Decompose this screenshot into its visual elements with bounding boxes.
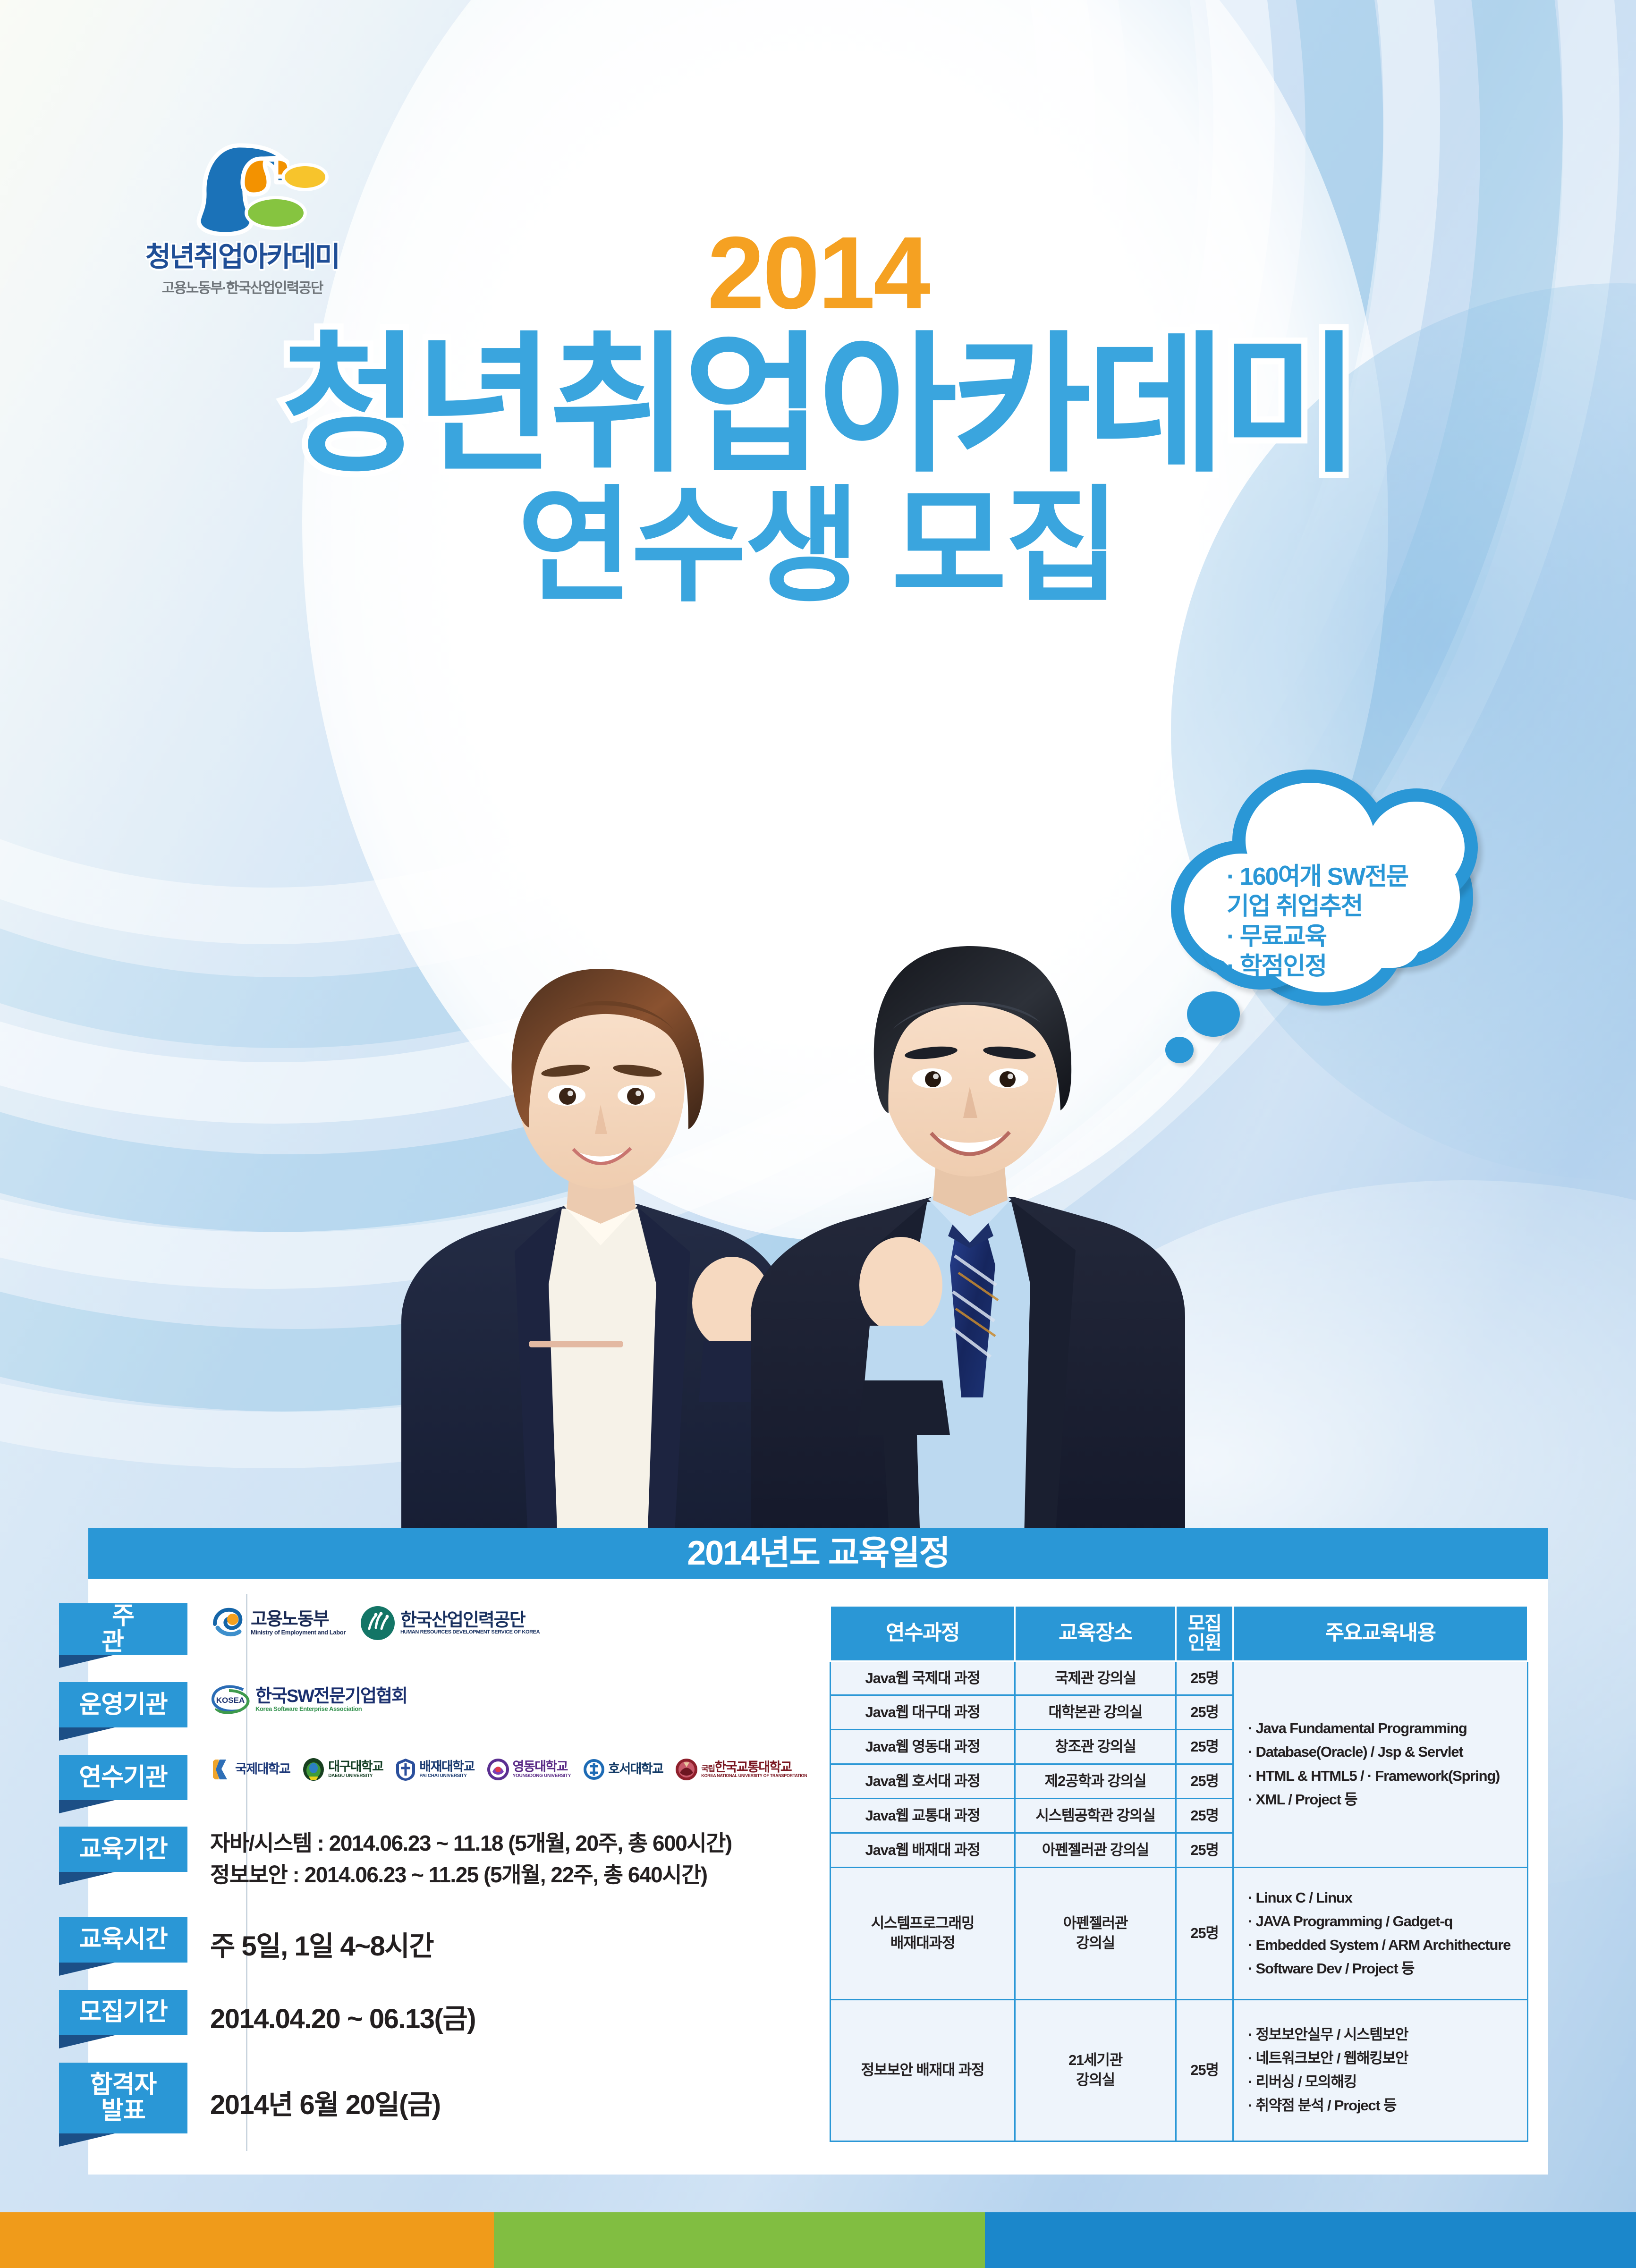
org-logo-mol: 고용노동부 Ministry of Employment and Labor — [210, 1605, 346, 1641]
info-label-period: 교육기간 — [59, 1827, 187, 1872]
svg-text:KOSEA: KOSEA — [216, 1696, 245, 1705]
info-label-application: 모집기간 — [59, 1990, 187, 2035]
university-paichai-en: PAI CHAI UNIVERSITY — [419, 1774, 474, 1778]
info-label-hours: 교육시간 — [59, 1917, 187, 1963]
cell-content-security: · 정보보안실무 / 시스템보안 · 네트워크보안 / 웹해킹보안 · 리버싱 … — [1233, 1999, 1528, 2141]
info-value-announcement: 2014년 6월 20일(금) — [187, 2063, 796, 2122]
org-logo-hrdkorea: 한국산업인력공단 HUMAN RESOURCES DEVELOPMENT SER… — [360, 1605, 540, 1641]
male-model — [751, 946, 1185, 1558]
org-logo-mol-en: Ministry of Employment and Labor — [251, 1629, 346, 1636]
cell-place: 아펜젤러관 강의실 — [1015, 1867, 1176, 1999]
info-label-operator: 운영기관 — [59, 1682, 187, 1727]
cell-place: 창조관 강의실 — [1015, 1730, 1176, 1764]
org-logo-mol-ko: 고용노동부 — [251, 1610, 346, 1629]
cell-content-sysprog: · Linux C / Linux · JAVA Programming / G… — [1233, 1867, 1528, 1999]
th-course: 연수과정 — [831, 1606, 1015, 1661]
kanut-crest-icon — [675, 1758, 698, 1781]
org-logo-kosea: KOSEA 한국SW전문기업협회 Korea Software Enterpri… — [210, 1684, 407, 1715]
university-youngdong-ko: 영동대학교 — [513, 1760, 571, 1774]
hoseo-crest-icon — [583, 1758, 605, 1781]
announcement-line-0: 2014년 6월 20일(금) — [210, 2082, 796, 2122]
info-value-operator: KOSEA 한국SW전문기업협회 Korea Software Enterpri… — [187, 1682, 796, 1715]
cell-place: 제2공학과 강의실 — [1015, 1764, 1176, 1799]
cell-capacity: 25명 — [1176, 1730, 1233, 1764]
kookje-crest-icon — [210, 1758, 232, 1781]
kosea-emblem-icon: KOSEA — [210, 1684, 251, 1715]
info-row-application: 모집기간 2014.04.20 ~ 06.13(금) — [59, 1990, 796, 2036]
bubble-line-3: · 학점인정 — [1227, 952, 1463, 982]
info-value-period: 자바/시스템 : 2014.06.23 ~ 11.18 (5개월, 20주, 총… — [187, 1827, 796, 1890]
panel-title: 2014년도 교육일정 — [88, 1528, 1548, 1579]
footer-bar-orange — [0, 2212, 494, 2268]
youth-academy-hook-icon — [162, 142, 322, 236]
info-value-host: 고용노동부 Ministry of Employment and Labor — [187, 1603, 796, 1641]
university-youngdong-en: YOUNGDONG UNIVERSITY — [513, 1774, 571, 1778]
logo-green-dot-icon — [248, 199, 304, 227]
cell-place: 대학본관 강의실 — [1015, 1695, 1176, 1730]
university-kanut-ko: 국립한국교통대학교 — [701, 1761, 807, 1774]
table-row: 정보보안 배재대 과정 21세기관 강의실 25명 · 정보보안실무 / 시스템… — [831, 1999, 1528, 2141]
university-paichai: 배재대학교 PAI CHAI UNIVERSITY — [395, 1758, 474, 1781]
info-row-training-institutions: 연수기관 국제대학교 — [59, 1755, 796, 1800]
university-paichai-ko: 배재대학교 — [419, 1760, 474, 1774]
th-place: 교육장소 — [1015, 1606, 1176, 1661]
university-daegu-ko: 대구대학교 — [328, 1760, 383, 1774]
cell-place: 21세기관 강의실 — [1015, 1999, 1176, 2141]
cell-capacity: 25명 — [1176, 1695, 1233, 1730]
female-model — [401, 969, 788, 1558]
mol-emblem-icon — [210, 1605, 246, 1641]
cell-capacity: 25명 — [1176, 1833, 1233, 1867]
cell-course: Java웹 영동대 과정 — [831, 1730, 1015, 1764]
info-row-period: 교육기간 자바/시스템 : 2014.06.23 ~ 11.18 (5개월, 2… — [59, 1827, 796, 1890]
cell-capacity: 25명 — [1176, 1999, 1233, 2141]
info-column: 주 관 고용노동부 Ministry of Employment and L — [59, 1603, 796, 2133]
info-value-application: 2014.04.20 ~ 06.13(금) — [187, 1990, 796, 2036]
university-kanut: 국립한국교통대학교 KOREA NATIONAL UNIVERSITY OF T… — [675, 1758, 807, 1781]
table-header-row: 연수과정 교육장소 모집 인원 주요교육내용 — [831, 1606, 1528, 1661]
university-daegu: 대구대학교 DAEGU UNIVERSITY — [302, 1758, 383, 1781]
logo-yellow-dot-icon — [285, 166, 325, 188]
youngdong-crest-icon — [487, 1758, 509, 1781]
university-hoseo-ko: 호서대학교 — [608, 1763, 663, 1776]
cell-place: 국제관 강의실 — [1015, 1661, 1176, 1695]
footer-color-bars — [0, 2212, 1636, 2268]
cell-capacity: 25명 — [1176, 1764, 1233, 1799]
org-logo-kosea-ko: 한국SW전문기업협회 — [255, 1687, 407, 1706]
info-label-host: 주 관 — [59, 1603, 187, 1655]
university-kanut-en: KOREA NATIONAL UNIVERSITY OF TRANSPORTAT… — [701, 1774, 807, 1778]
university-kookje: 국제대학교 — [210, 1758, 290, 1781]
info-row-hours: 교육시간 주 5일, 1일 4~8시간 — [59, 1917, 796, 1963]
info-row-announcement: 합격자 발표 2014년 6월 20일(금) — [59, 2063, 796, 2133]
cell-course: Java웹 호서대 과정 — [831, 1764, 1015, 1799]
paichai-crest-icon — [395, 1758, 416, 1781]
panel-title-bar: 2014년도 교육일정 — [88, 1528, 1548, 1579]
info-row-host: 주 관 고용노동부 Ministry of Employment and L — [59, 1603, 796, 1655]
footer-bar-green — [494, 2212, 985, 2268]
logo-subtitle: 고용노동부·한국산업인력공단 — [115, 276, 370, 297]
cell-course: Java웹 배재대 과정 — [831, 1833, 1015, 1867]
table-row: Java웹 국제대 과정 국제관 강의실 25명 · Java Fundamen… — [831, 1661, 1528, 1695]
footer-bar-blue — [985, 2212, 1636, 2268]
cell-course: 정보보안 배재대 과정 — [831, 1999, 1015, 2141]
cell-course: Java웹 대구대 과정 — [831, 1695, 1015, 1730]
university-kookje-ko: 국제대학교 — [235, 1763, 290, 1776]
bubble-line-1: 기업 취업추천 — [1227, 892, 1463, 922]
cell-course: 시스템프로그래밍 배재대과정 — [831, 1867, 1015, 1999]
hrdkorea-emblem-icon — [360, 1605, 396, 1641]
info-row-operator: 운영기관 KOSEA 한국SW전문기업협회 Korea Software Ent — [59, 1682, 796, 1727]
student-models-photo — [373, 727, 1204, 1558]
bubble-tail-large-icon — [1187, 991, 1240, 1037]
poster-root: 청년취업아카데미 고용노동부·한국산업인력공단 2014 청년취업아카데미 연수… — [0, 0, 1636, 2268]
daegu-crest-icon — [302, 1758, 325, 1781]
cell-content-java: · Java Fundamental Programming · Databas… — [1233, 1661, 1528, 1867]
org-logo-kosea-en: Korea Software Enterprise Association — [255, 1706, 407, 1712]
info-label-announcement: 합격자 발표 — [59, 2063, 187, 2133]
cell-capacity: 25명 — [1176, 1798, 1233, 1833]
cell-capacity: 25명 — [1176, 1867, 1233, 1999]
bubble-line-0: · 160여개 SW전문 — [1227, 862, 1463, 892]
org-logo-hrdkorea-ko: 한국산업인력공단 — [400, 1611, 540, 1630]
cell-course: Java웹 국제대 과정 — [831, 1661, 1015, 1695]
academy-logo: 청년취업아카데미 고용노동부·한국산업인력공단 — [115, 142, 370, 297]
benefits-thought-bubble: · 160여개 SW전문 기업 취업추천 · 무료교육 · 학점인정 — [1171, 770, 1501, 1034]
schedule-panel: 2014년도 교육일정 주 관 — [88, 1528, 1548, 2175]
hours-line-0: 주 5일, 1일 4~8시간 — [210, 1924, 796, 1963]
info-value-training-institutions: 국제대학교 대구대학교 DAEGU UNIVERSITY — [187, 1755, 807, 1781]
university-hoseo: 호서대학교 — [583, 1758, 663, 1781]
table-row: 시스템프로그래밍 배재대과정 아펜젤러관 강의실 25명 · Linux C /… — [831, 1867, 1528, 1999]
cell-course: Java웹 교통대 과정 — [831, 1798, 1015, 1833]
cell-place: 아펜젤러관 강의실 — [1015, 1833, 1176, 1867]
info-value-hours: 주 5일, 1일 4~8시간 — [187, 1917, 796, 1963]
schedule-table: 연수과정 교육장소 모집 인원 주요교육내용 Java웹 국제대 과정 국제관 … — [830, 1605, 1528, 2142]
period-line-1: 정보보안 : 2014.06.23 ~ 11.25 (5개월, 22주, 총 6… — [210, 1859, 796, 1891]
th-content: 주요교육내용 — [1233, 1606, 1528, 1661]
bubble-line-2: · 무료교육 — [1227, 922, 1463, 952]
info-label-training-institutions: 연수기관 — [59, 1755, 187, 1800]
bubble-text: · 160여개 SW전문 기업 취업추천 · 무료교육 · 학점인정 — [1227, 862, 1463, 982]
th-capacity: 모집 인원 — [1176, 1606, 1233, 1661]
org-logo-hrdkorea-en: HUMAN RESOURCES DEVELOPMENT SERVICE OF K… — [400, 1630, 540, 1635]
logo-name: 청년취업아카데미 — [115, 234, 370, 274]
university-daegu-en: DAEGU UNIVERSITY — [328, 1774, 383, 1778]
cell-capacity: 25명 — [1176, 1661, 1233, 1695]
university-kanut-prefix: 국립 — [701, 1764, 714, 1773]
cell-place: 시스템공학관 강의실 — [1015, 1798, 1176, 1833]
period-line-0: 자바/시스템 : 2014.06.23 ~ 11.18 (5개월, 20주, 총… — [210, 1828, 796, 1859]
university-youngdong: 영동대학교 YOUNGDONG UNIVERSITY — [487, 1758, 571, 1781]
bubble-tail-small-icon — [1165, 1037, 1194, 1063]
application-line-0: 2014.04.20 ~ 06.13(금) — [210, 1997, 796, 2036]
